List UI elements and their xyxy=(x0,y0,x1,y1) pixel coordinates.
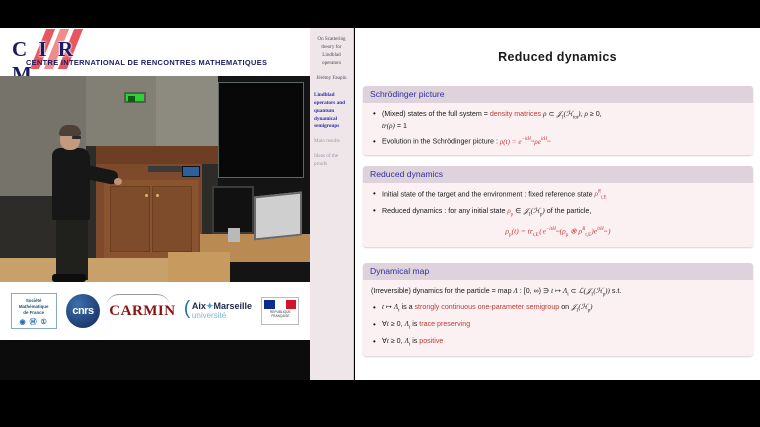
monitor-dark xyxy=(212,186,254,234)
french-flag-icon xyxy=(264,300,296,309)
bullet-mixed-states: (Mixed) states of the full system = dens… xyxy=(371,109,745,133)
bullet-initial-state: Initial state of the target and the envi… xyxy=(371,189,745,202)
screenshot-root: C I R M CENTRE INTERNATIONAL DE RENCONTR… xyxy=(0,0,760,427)
speaker-hair xyxy=(59,125,81,136)
podium-knob xyxy=(145,194,148,197)
laptop-screen xyxy=(254,191,302,240)
sidebar-item-main-results[interactable]: Main results xyxy=(313,138,350,146)
sponsor-cnrs: cnrs xyxy=(66,294,100,328)
bullet-semigroup: t ↦ Λt is a strongly continuous one-para… xyxy=(371,302,745,315)
lecture-hall-wall-right xyxy=(156,76,218,148)
speaker-body xyxy=(52,148,90,220)
video-still-frame[interactable] xyxy=(0,76,310,282)
presentation-author: Jérémy Faupin xyxy=(313,75,350,83)
monitor-stand xyxy=(228,228,240,242)
smf-line-3: de France xyxy=(12,310,56,316)
amu-line-2: université xyxy=(192,312,252,320)
exit-sign-icon xyxy=(124,92,146,103)
beamer-sidebar: On Scattering theory for Lindblad operat… xyxy=(310,28,354,380)
lecture-hall-step xyxy=(168,252,230,282)
bullet-positive: ∀t ≥ 0, Λt is positive xyxy=(371,336,745,349)
block-title-reduced-dynamics: Reduced dynamics xyxy=(363,166,753,183)
slide-title: Reduced dynamics xyxy=(355,50,760,64)
carmin-logo-label: CARMIN xyxy=(109,303,175,320)
video-panel[interactable]: C I R M CENTRE INTERNATIONAL DE RENCONTR… xyxy=(0,28,310,380)
podium-knob xyxy=(156,194,159,197)
speaker-legs xyxy=(56,216,88,280)
bullet-reduced-dynamics: Reduced dynamics : for any initial state… xyxy=(371,206,745,219)
block-schrodinger-picture: Schrödinger picture (Mixed) states of th… xyxy=(363,86,753,155)
podium-door-left xyxy=(110,186,150,252)
block-body-dynamical-map: (Irreversible) dynamics for the particle… xyxy=(363,280,753,357)
block-body-schrodinger: (Mixed) states of the full system = dens… xyxy=(363,103,753,155)
dynamical-map-lead: (Irreversible) dynamics for the particle… xyxy=(371,286,745,299)
sponsor-carmin: CARMIN xyxy=(109,303,175,320)
block-reduced-dynamics: Reduced dynamics Initial state of the ta… xyxy=(363,166,753,247)
rf-caption: RÉPUBLIQUE FRANÇAISE xyxy=(264,311,296,319)
block-body-reduced-dynamics: Initial state of the target and the envi… xyxy=(363,183,753,247)
speaker-glasses xyxy=(72,136,81,139)
speaker-shoes xyxy=(52,274,86,282)
equation-reduced-dynamics: ρp(t) = trt,E ( e−itHtot(ρp ⊗ ρRt,E)eitH… xyxy=(371,225,745,239)
bullet-evolution: Evolution in the Schrödinger picture : ρ… xyxy=(371,136,745,147)
smf-icons: ◉ Ⓜ ① xyxy=(12,318,56,327)
sponsor-aix-marseille: Aix✦Marseille université xyxy=(185,302,252,320)
letterbox-top xyxy=(0,0,760,28)
lecture-hall-wall-mid xyxy=(86,76,156,146)
letterbox-bottom xyxy=(0,380,760,427)
bullet-trace-preserving: ∀t ≥ 0, Λt is trace preserving xyxy=(371,319,745,332)
sidebar-item-lindblad-operators[interactable]: Lindblad operators and quantum dynamical… xyxy=(313,92,350,131)
slide-content: Reduced dynamics Schrödinger picture (Mi… xyxy=(355,28,760,380)
block-title-dynamical-map: Dynamical map xyxy=(363,263,753,280)
presentation-title: On Scattering theory for Lindblad operat… xyxy=(313,36,350,68)
cnrs-logo-label: cnrs xyxy=(66,294,100,328)
cirm-logo-letters: C I R M xyxy=(12,37,104,76)
block-dynamical-map: Dynamical map (Irreversible) dynamics fo… xyxy=(363,263,753,356)
block-title-schrodinger: Schrödinger picture xyxy=(363,86,753,103)
cirm-logo: C I R M xyxy=(12,32,104,66)
sidebar-item-ideas-of-the-proofs[interactable]: Ideas of the proofs xyxy=(313,153,350,169)
sponsor-logo-bar: Société Mathématique de France ◉ Ⓜ ① cnr… xyxy=(0,282,310,340)
podium-top xyxy=(96,146,218,164)
speaker-hand xyxy=(114,178,122,185)
keyboard xyxy=(148,166,182,172)
cirm-banner: C I R M CENTRE INTERNATIONAL DE RENCONTR… xyxy=(0,28,310,76)
projection-screen xyxy=(218,82,304,178)
small-monitor xyxy=(182,166,200,177)
sponsor-republique-francaise: RÉPUBLIQUE FRANÇAISE xyxy=(261,297,299,325)
sponsor-smf: Société Mathématique de France ◉ Ⓜ ① xyxy=(11,293,57,329)
